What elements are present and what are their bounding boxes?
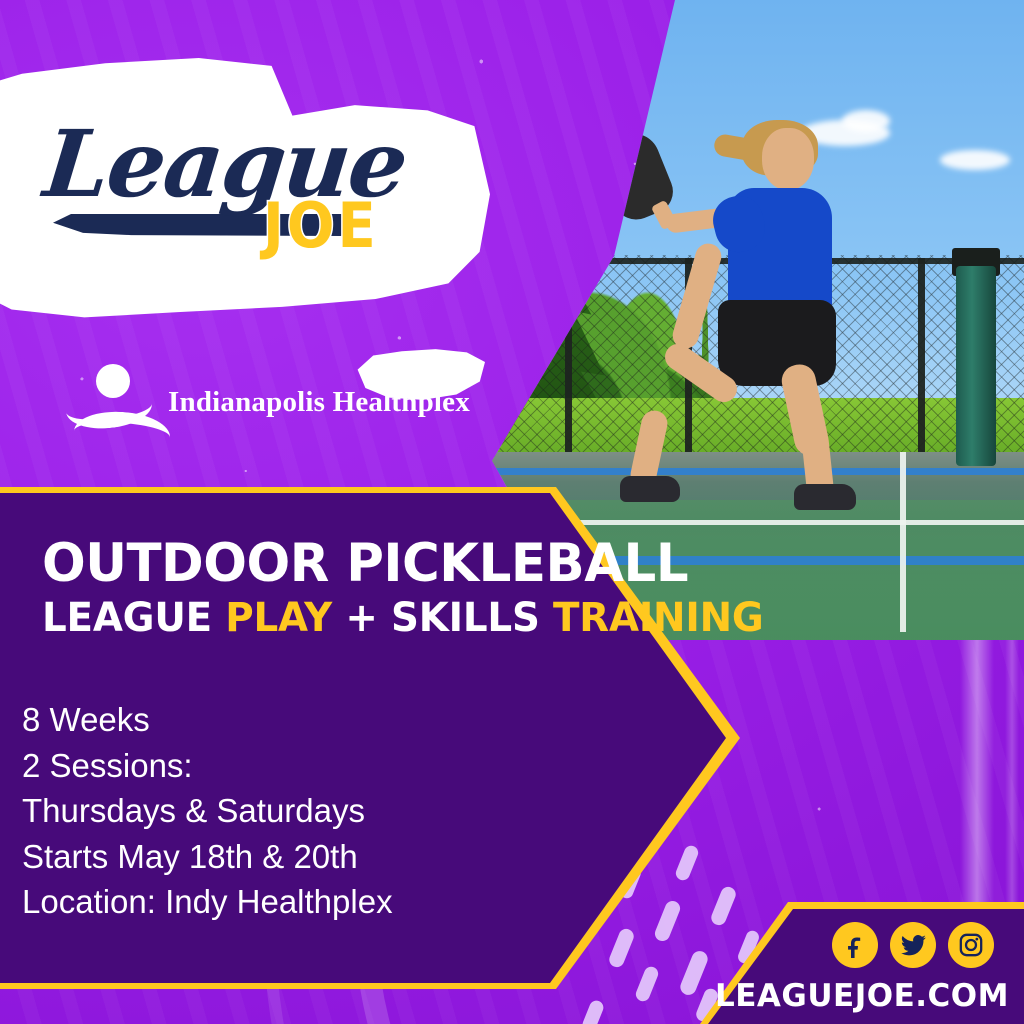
headline-league: LEAGUE	[42, 595, 225, 641]
facebook-icon[interactable]	[832, 922, 878, 968]
headline-primary: OUTDOOR PICKLEBALL	[42, 537, 764, 591]
figure-body-swoosh	[73, 409, 172, 460]
headline-block: OUTDOOR PICKLEBALL LEAGUE PLAY + SKILLS …	[42, 537, 786, 639]
social-links[interactable]	[832, 922, 994, 968]
detail-start-date: Starts May 18th & 20th	[22, 834, 393, 880]
promo-poster: League JOE Indianapolis Healthplex OUTDO…	[0, 0, 1024, 1024]
headline-training: TRAINING	[553, 595, 763, 641]
player-shorts	[718, 300, 836, 386]
detail-sessions: 2 Sessions:	[22, 743, 393, 789]
headline-secondary: LEAGUE PLAY + SKILLS TRAINING	[42, 597, 764, 639]
player-shoe-right	[794, 484, 856, 510]
player-arm-left	[670, 241, 725, 352]
player-head	[762, 128, 814, 190]
running-figure-icon	[70, 360, 154, 444]
partner-logo: Indianapolis Healthplex	[70, 360, 470, 444]
detail-duration: 8 Weeks	[22, 697, 393, 743]
cloud	[940, 150, 1010, 170]
headline-play: PLAY	[225, 595, 332, 641]
twitter-icon[interactable]	[890, 922, 936, 968]
details-list: 8 Weeks 2 Sessions: Thursdays & Saturday…	[22, 697, 393, 925]
headline-plus: +	[332, 595, 391, 641]
detail-location: Location: Indy Healthplex	[22, 879, 393, 925]
instagram-icon[interactable]	[948, 922, 994, 968]
league-joe-logo: League JOE	[45, 118, 395, 258]
net-post-padding	[956, 266, 996, 466]
photo-player	[618, 92, 948, 512]
partner-name: Indianapolis Healthplex	[168, 386, 470, 419]
headline-skills: SKILLS	[391, 595, 553, 641]
detail-days: Thursdays & Saturdays	[22, 788, 393, 834]
website-url[interactable]: LEAGUEJOE.COM	[700, 978, 1024, 1014]
logo-block-text: JOE	[263, 190, 379, 263]
